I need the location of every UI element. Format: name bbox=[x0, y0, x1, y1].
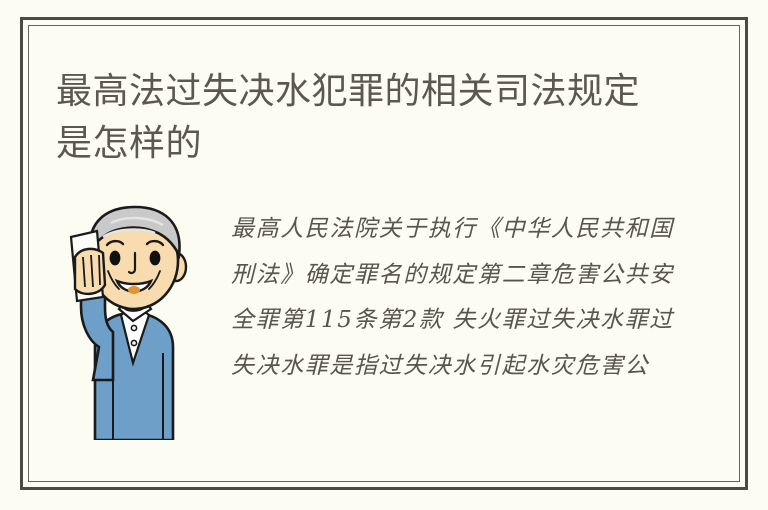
article-card: 最高法过失决水犯罪的相关司法规定是怎样的 bbox=[20, 17, 748, 490]
content-row: 最高人民法院关于执行《中华人民共和国刑法》确定罪名的规定第二章危害公共安全罪第1… bbox=[23, 195, 745, 450]
page-title: 最高法过失决水犯罪的相关司法规定是怎样的 bbox=[56, 65, 676, 169]
elderly-man-holding-phone-illustration bbox=[53, 195, 213, 440]
article-body: 最高人民法院关于执行《中华人民共和国刑法》确定罪名的规定第二章危害公共安全罪第1… bbox=[231, 207, 683, 447]
